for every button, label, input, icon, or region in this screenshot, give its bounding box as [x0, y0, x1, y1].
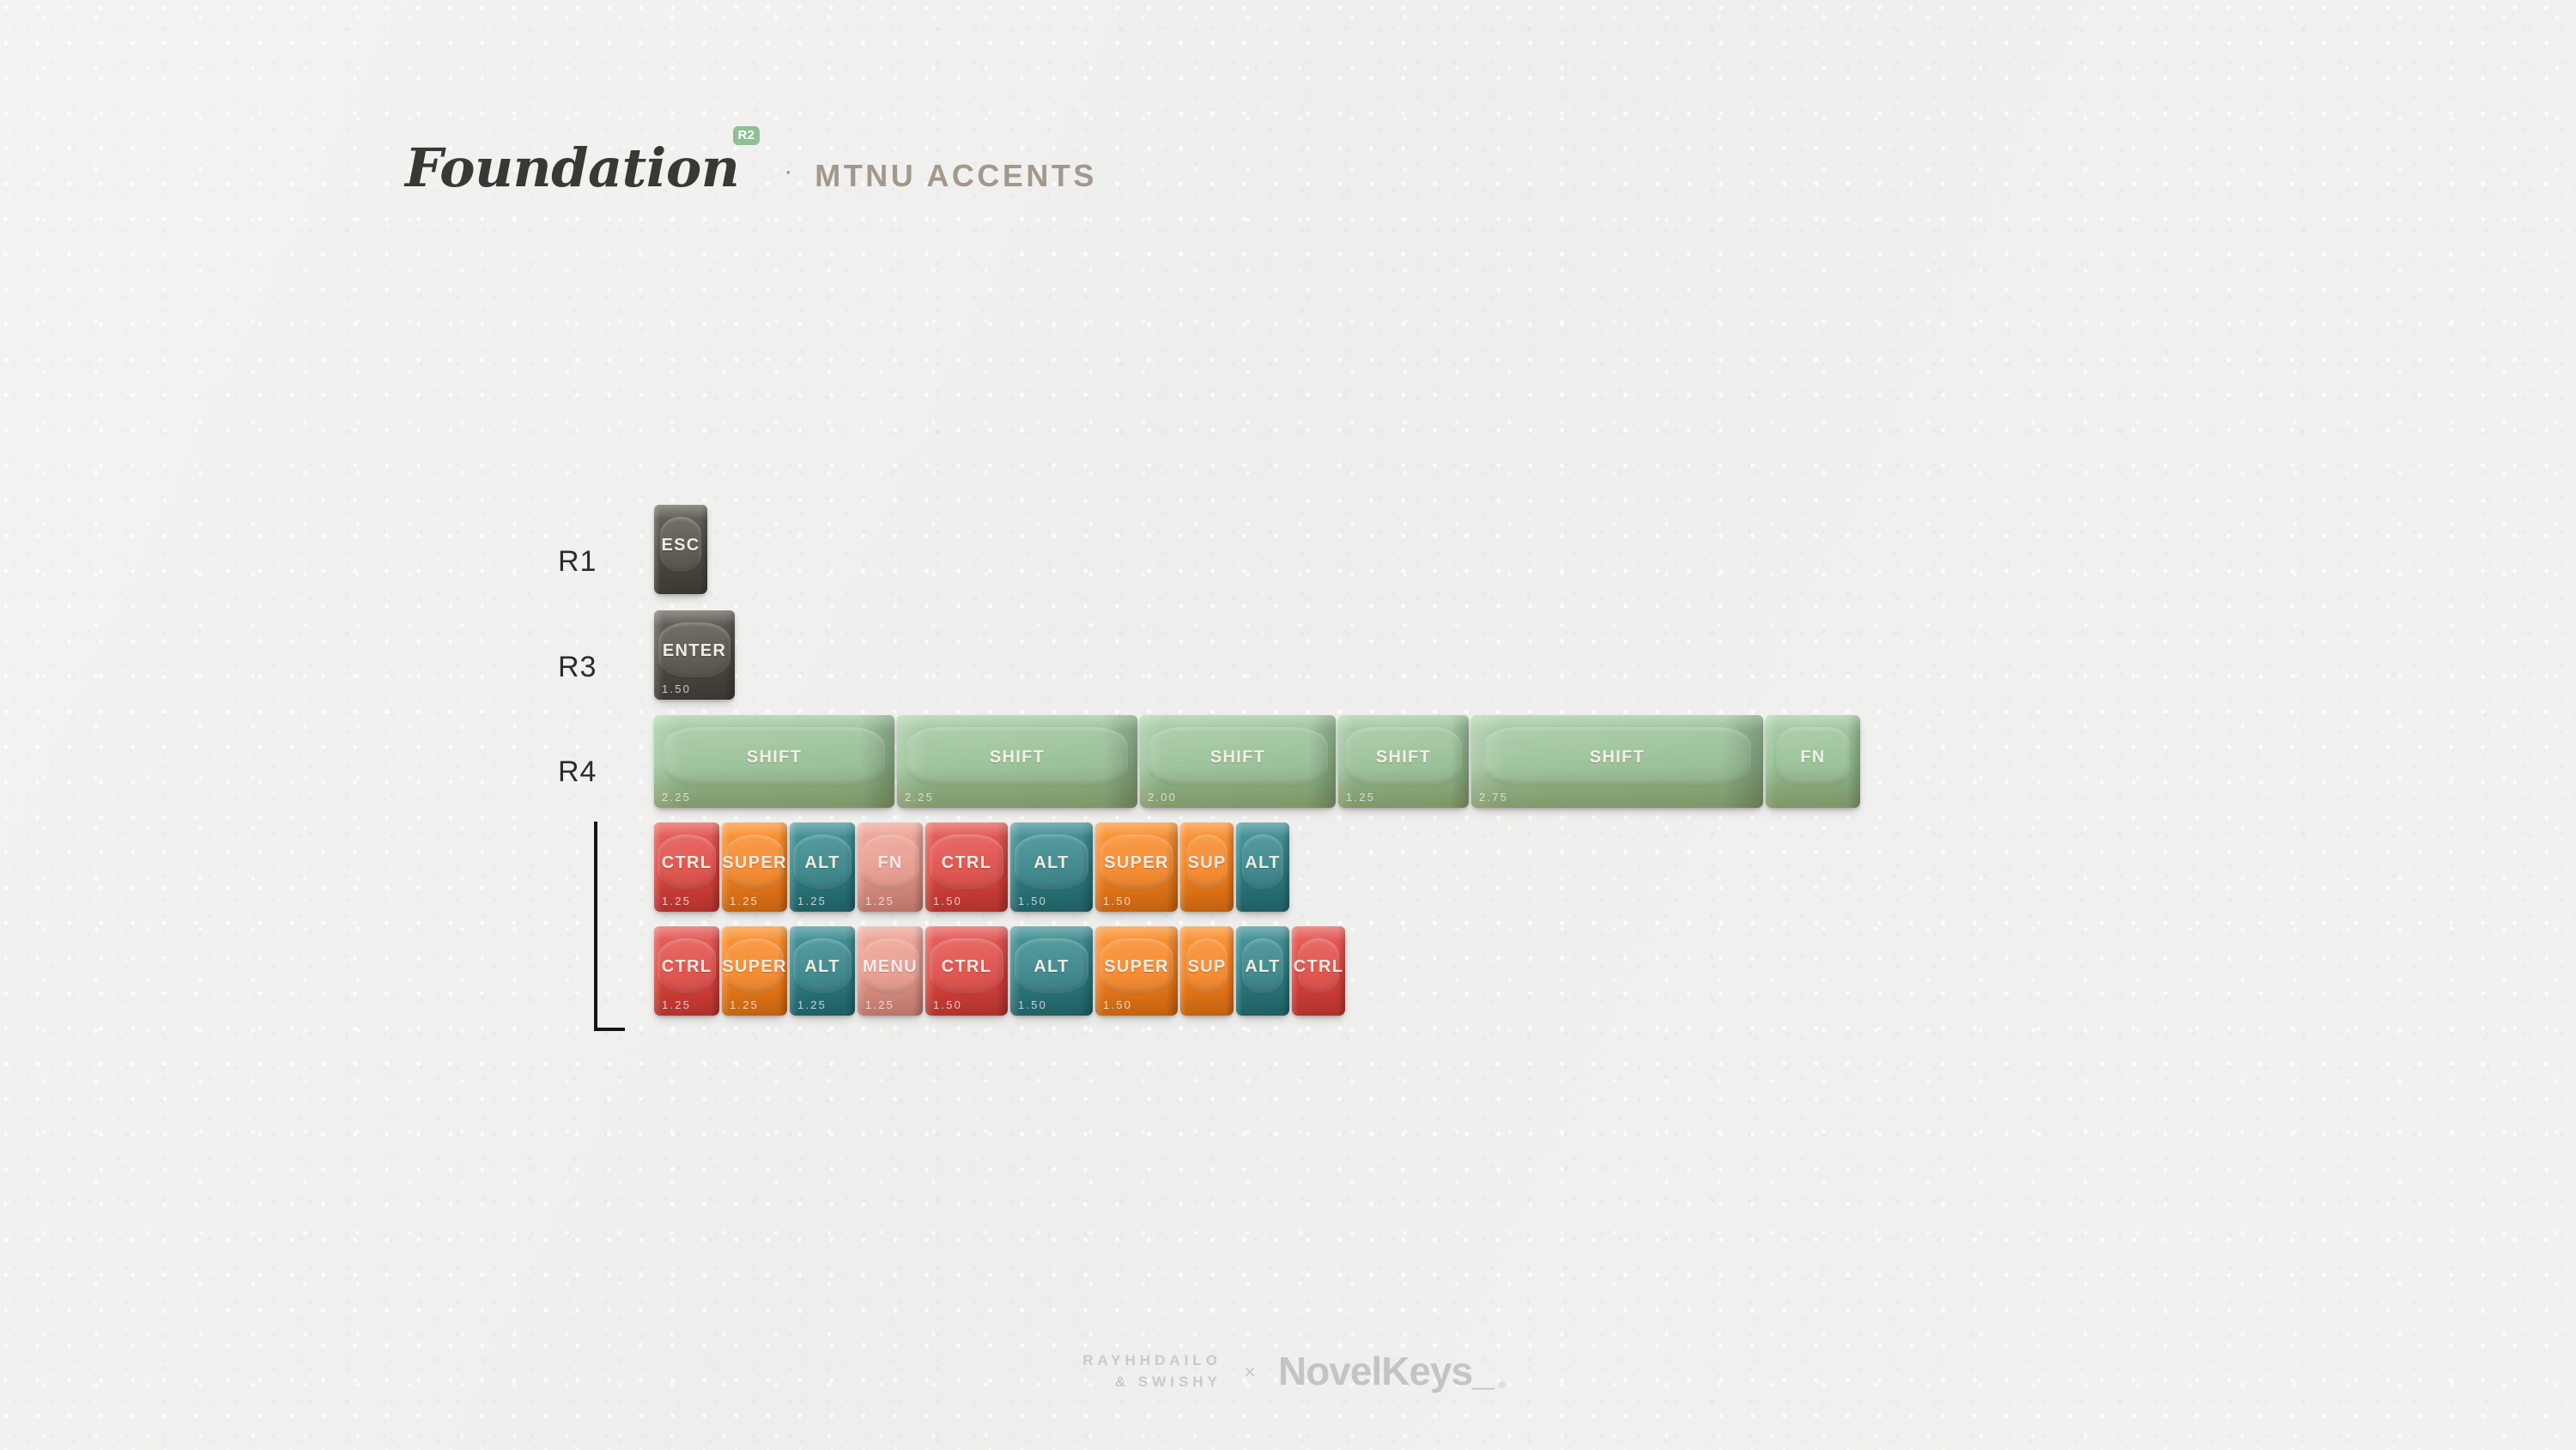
- title-wrap: Foundation R2: [405, 142, 739, 195]
- row-group-bracket: [592, 820, 627, 1033]
- header-separator-dot: ·: [784, 159, 792, 185]
- keycap-size-label: 1.25: [1346, 791, 1375, 804]
- keycap-legend: ALT: [1236, 926, 1289, 1016]
- keycap-size-label: 2.75: [1479, 791, 1508, 804]
- footer: RAYHHDAILO & SWISHY × NovelKeys_®: [0, 1348, 2576, 1394]
- keycap-size-label: 1.25: [662, 895, 691, 907]
- novelkeys-wordmark: NovelKeys_: [1278, 1349, 1494, 1393]
- keycap-row-r4: SHIFT 2.25 SHIFT 2.25 SHIFT 2.00 SHIFT 1…: [654, 715, 1860, 808]
- keycap-legend: SUP: [1180, 926, 1233, 1016]
- keycap-super-150-b[interactable]: SUPER 1.50: [1095, 926, 1178, 1016]
- keycap-shift-200[interactable]: SHIFT 2.00: [1140, 715, 1336, 808]
- keycap-legend: ESC: [654, 505, 707, 594]
- keycap-size-label: 2.00: [1148, 791, 1177, 804]
- row-label-r1: R1: [558, 545, 597, 579]
- keycap-sup-a[interactable]: SUP: [1180, 822, 1233, 912]
- keycap-super-125-b[interactable]: SUPER 1.25: [722, 926, 787, 1016]
- keycap-size-label: 1.25: [865, 895, 894, 907]
- keycap-legend: SHIFT: [1471, 715, 1763, 808]
- keycap-row-r1: ESC: [654, 505, 707, 594]
- keycap-fn-r4[interactable]: FN: [1766, 715, 1860, 808]
- keycap-size-label: 1.50: [1018, 998, 1047, 1011]
- keycap-alt-150-b[interactable]: ALT 1.50: [1010, 926, 1093, 1016]
- keycap-esc[interactable]: ESC: [654, 505, 707, 594]
- keycap-size-label: 1.50: [1103, 998, 1132, 1011]
- revision-badge: R2: [733, 126, 761, 145]
- keycap-ctrl-125-b[interactable]: CTRL 1.25: [654, 926, 719, 1016]
- keycap-size-label: 2.25: [662, 791, 691, 804]
- keycap-legend: CTRL: [1292, 926, 1345, 1016]
- row-label-r4: R4: [558, 755, 597, 789]
- page-subtitle: MTNU ACCENTS: [815, 158, 1097, 194]
- keycap-alt-150-a[interactable]: ALT 1.50: [1010, 822, 1093, 912]
- collab-cross-icon: ×: [1244, 1361, 1256, 1385]
- keycap-enter[interactable]: ENTER 1.50: [654, 610, 735, 700]
- page-title: Foundation: [405, 137, 739, 199]
- keycap-alt-1u-a[interactable]: ALT: [1236, 822, 1289, 912]
- keycap-size-label: 1.25: [662, 998, 691, 1011]
- keycap-sup-b[interactable]: SUP: [1180, 926, 1233, 1016]
- keycap-size-label: 1.25: [797, 998, 827, 1011]
- designer-credit-line-2: & SWISHY: [1082, 1371, 1221, 1393]
- keycap-size-label: 1.25: [797, 895, 827, 907]
- designer-credit-line-1: RAYHHDAILO: [1082, 1350, 1221, 1372]
- keycap-size-label: 1.50: [933, 998, 962, 1011]
- keycap-fn-125[interactable]: FN 1.25: [858, 822, 923, 912]
- keycap-size-label: 1.25: [730, 998, 759, 1011]
- keycap-shift-225-a[interactable]: SHIFT 2.25: [654, 715, 894, 808]
- keycap-layout-stage: R1 R3 R4 ESC ENTER 1.50 SHIFT 2.25: [0, 0, 2576, 1450]
- keycap-legend: SUP: [1180, 822, 1233, 912]
- keycap-size-label: 2.25: [905, 791, 934, 804]
- keycap-super-125-a[interactable]: SUPER 1.25: [722, 822, 787, 912]
- keycap-alt-125-b[interactable]: ALT 1.25: [790, 926, 855, 1016]
- keycap-alt-125-a[interactable]: ALT 1.25: [790, 822, 855, 912]
- designer-credit: RAYHHDAILO & SWISHY: [1082, 1350, 1221, 1393]
- keycap-shift-125[interactable]: SHIFT 1.25: [1338, 715, 1469, 808]
- registered-mark-icon: ®: [1499, 1380, 1505, 1391]
- keycap-row-r3: ENTER 1.50: [654, 610, 735, 700]
- keycap-size-label: 1.50: [933, 895, 962, 907]
- keycap-legend: ALT: [1236, 822, 1289, 912]
- keycap-size-label: 1.50: [662, 683, 691, 695]
- keycap-super-150-a[interactable]: SUPER 1.50: [1095, 822, 1178, 912]
- keycap-ctrl-1u[interactable]: CTRL: [1292, 926, 1345, 1016]
- header: Foundation R2 · MTNU ACCENTS: [405, 142, 1097, 195]
- keycap-size-label: 1.25: [730, 895, 759, 907]
- keycap-alt-1u-b[interactable]: ALT: [1236, 926, 1289, 1016]
- keycap-shift-275[interactable]: SHIFT 2.75: [1471, 715, 1763, 808]
- keycap-legend: FN: [1766, 715, 1860, 808]
- keycap-ctrl-150-a[interactable]: CTRL 1.50: [925, 822, 1008, 912]
- keycap-ctrl-150-b[interactable]: CTRL 1.50: [925, 926, 1008, 1016]
- keycap-row-mod-a: CTRL 1.25 SUPER 1.25 ALT 1.25 FN 1.25 CT…: [654, 822, 1289, 912]
- keycap-size-label: 1.25: [865, 998, 894, 1011]
- keycap-size-label: 1.50: [1103, 895, 1132, 907]
- keycap-shift-225-b[interactable]: SHIFT 2.25: [897, 715, 1137, 808]
- keycap-ctrl-125-a[interactable]: CTRL 1.25: [654, 822, 719, 912]
- novelkeys-logo: NovelKeys_®: [1278, 1348, 1494, 1394]
- row-label-r3: R3: [558, 651, 597, 684]
- keycap-size-label: 1.50: [1018, 895, 1047, 907]
- keycap-row-mod-b: CTRL 1.25 SUPER 1.25 ALT 1.25 MENU 1.25 …: [654, 926, 1345, 1016]
- keycap-menu-125[interactable]: MENU 1.25: [858, 926, 923, 1016]
